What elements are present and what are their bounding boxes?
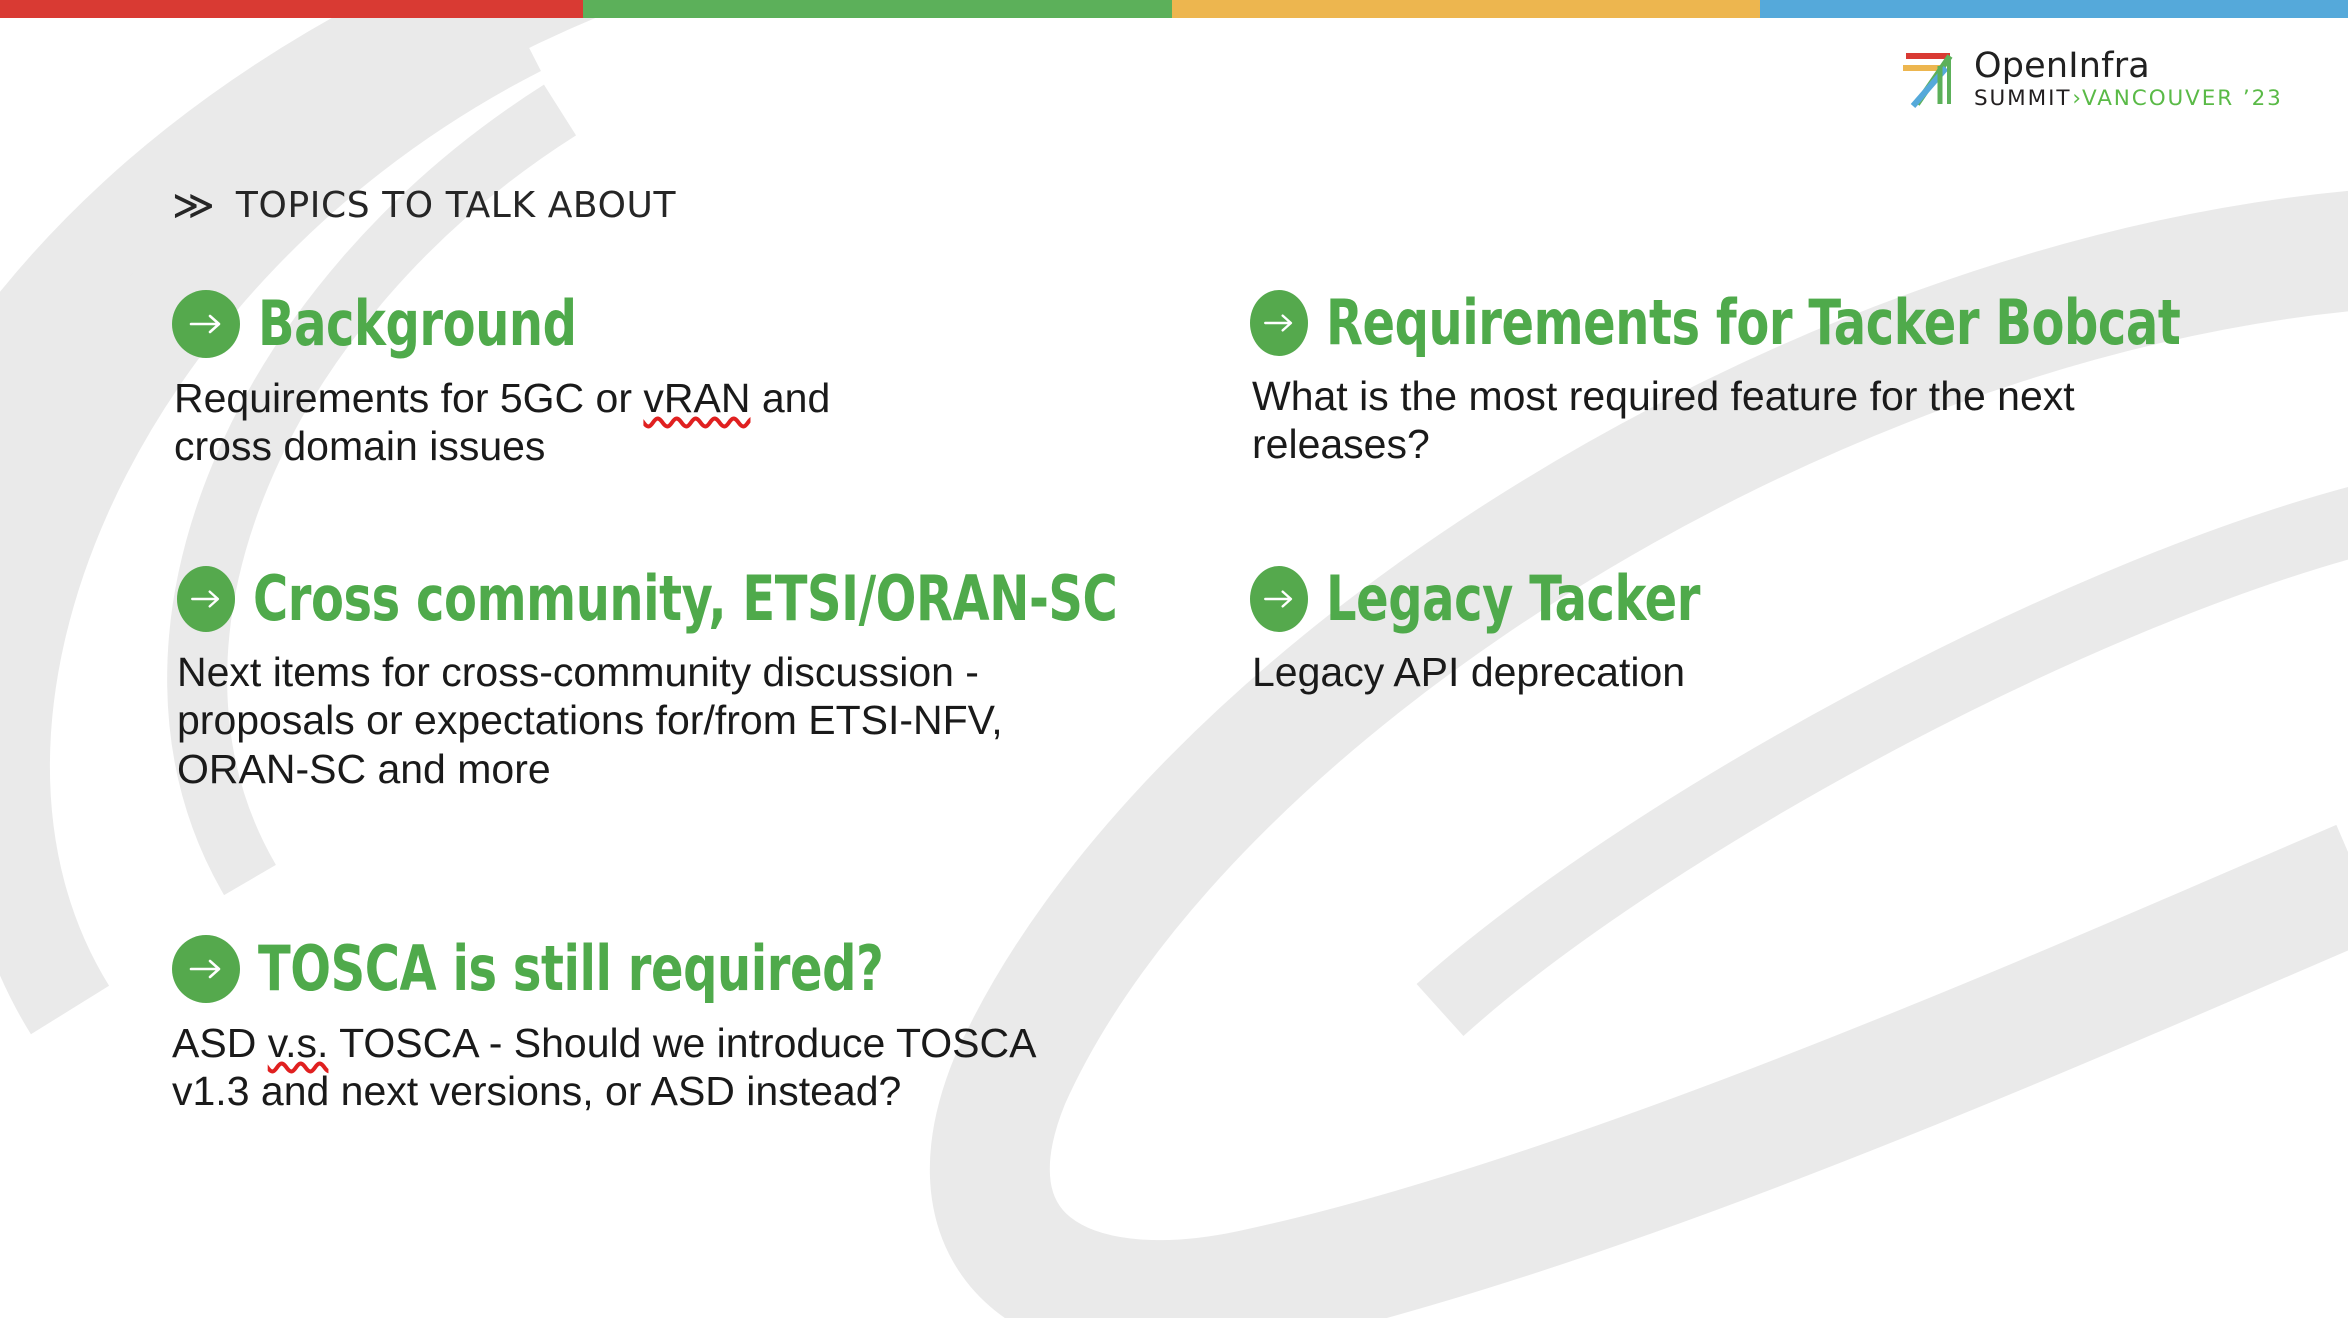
color-segment-green: [583, 0, 1172, 18]
topic-heading-row: Requirements for Tacker Bobcat: [1250, 290, 2319, 356]
topic-title: Requirements for Tacker Bobcat: [1326, 292, 2180, 354]
topic-description: What is the most required feature for th…: [1252, 372, 2319, 469]
topic-heading-row: Background: [172, 290, 830, 358]
color-segment-blue: [1760, 0, 2348, 18]
logo-chevron-icon: ›: [2072, 86, 2081, 111]
arrow-right-icon: [1250, 290, 1308, 356]
topic-title: Background: [258, 293, 577, 355]
topic-title: Legacy Tacker: [1326, 568, 1700, 630]
logo-city-year: VANCOUVER ’23: [2082, 86, 2283, 111]
topic-cross-community[interactable]: Cross community, ETSI/ORAN-SC Next items…: [177, 566, 1258, 793]
topic-description: Requirements for 5GC or vRAN and cross d…: [174, 374, 830, 471]
arrow-right-icon: [177, 566, 235, 632]
arrow-right-icon: [1250, 566, 1308, 632]
topic-title: Cross community, ETSI/ORAN-SC: [253, 568, 1117, 630]
slide-canvas: OpenInfra SUMMIT›VANCOUVER ’23 ≫ TOPICS …: [0, 0, 2348, 1318]
double-chevron-icon: ≫: [172, 185, 209, 226]
logo-summit-line: SUMMIT›VANCOUVER ’23: [1974, 87, 2283, 112]
topic-description-pre: ASD: [172, 1020, 268, 1066]
topic-description: Next items for cross-community discussio…: [177, 648, 1258, 793]
topic-heading-row: Legacy Tacker: [1250, 566, 1761, 632]
logo-text-block: OpenInfra SUMMIT›VANCOUVER ’23: [1974, 46, 2283, 112]
openinfra-summit-logo: OpenInfra SUMMIT›VANCOUVER ’23: [1900, 46, 2283, 112]
topic-description: Legacy API deprecation: [1252, 648, 1761, 696]
logo-wordmark: OpenInfra: [1974, 48, 2283, 84]
section-header: ≫ TOPICS TO TALK ABOUT: [172, 185, 676, 226]
color-segment-yellow: [1172, 0, 1760, 18]
arrow-right-icon: [172, 935, 240, 1003]
topic-heading-row: Cross community, ETSI/ORAN-SC: [177, 566, 1258, 632]
topic-description: ASD v.s. TOSCA - Should we introduce TOS…: [172, 1019, 1036, 1116]
top-color-bar: [0, 0, 2348, 18]
topic-heading-row: TOSCA is still required?: [172, 935, 1036, 1003]
openinfra-logo-mark: [1900, 46, 1962, 108]
color-segment-red: [0, 0, 583, 18]
arrow-right-icon: [172, 290, 240, 358]
misspelled-word: v.s.: [268, 1020, 329, 1066]
topic-requirements-bobcat[interactable]: Requirements for Tacker Bobcat What is t…: [1250, 290, 2319, 469]
topic-background[interactable]: Background Requirements for 5GC or vRAN …: [172, 290, 830, 471]
topic-title: TOSCA is still required?: [258, 938, 883, 1000]
logo-summit-label: SUMMIT: [1974, 86, 2071, 111]
topic-legacy-tacker[interactable]: Legacy Tacker Legacy API deprecation: [1250, 566, 1761, 696]
topic-description-pre: Requirements for 5GC or: [174, 375, 643, 421]
misspelled-word: vRAN: [643, 375, 750, 421]
topic-tosca[interactable]: TOSCA is still required? ASD v.s. TOSCA …: [172, 935, 1036, 1116]
page-title: TOPICS TO TALK ABOUT: [236, 188, 676, 224]
